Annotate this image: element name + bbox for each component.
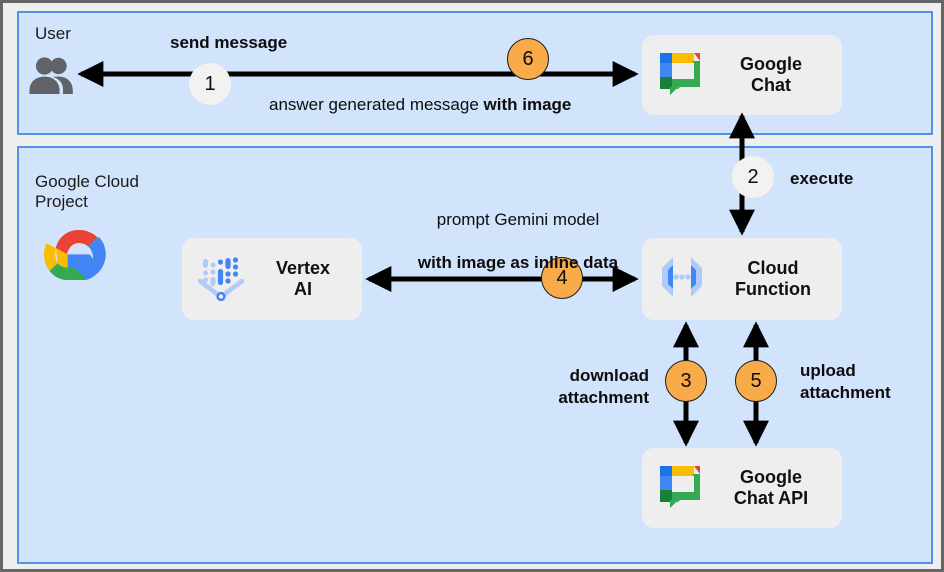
diagram-canvas: User Google Cloud Project (0, 0, 944, 572)
caption-prompt-gemini: prompt Gemini model with image as inline… (412, 187, 624, 296)
caption-answer-bold: with image (484, 95, 572, 114)
users-group-icon (28, 57, 76, 100)
google-chat-logo-icon (656, 462, 704, 515)
vertex-ai-logo-icon (196, 251, 248, 308)
caption-answer-generated-message: answer generated message with image (269, 94, 571, 116)
caption-send-message: send message (170, 32, 287, 54)
caption-prompt-line1: prompt Gemini model (412, 209, 624, 231)
node-google-chat-api[interactable]: Google Chat API (642, 448, 842, 528)
caption-upload-attachment: upload attachment (800, 360, 920, 404)
node-cloud-function-label: Cloud Function (718, 258, 828, 300)
step-badge-2: 2 (732, 156, 774, 198)
node-cloud-function[interactable]: Cloud Function (642, 238, 842, 320)
step-badge-3: 3 (665, 360, 707, 402)
node-vertex-ai-label: Vertex AI (258, 258, 348, 300)
node-google-chat-label: Google Chat (714, 54, 828, 96)
google-chat-logo-icon (656, 49, 704, 102)
caption-execute: execute (790, 168, 853, 190)
google-cloud-logo-icon (43, 226, 115, 293)
caption-answer-regular: answer generated message (269, 95, 484, 114)
step-badge-6: 6 (507, 38, 549, 80)
caption-prompt-line2: with image as inline data (412, 252, 624, 274)
google-cloud-project-panel-label: Google Cloud Project (35, 172, 139, 212)
step-badge-5: 5 (735, 360, 777, 402)
user-panel-label: User (35, 24, 71, 44)
node-google-chat-api-label: Google Chat API (714, 467, 828, 509)
step-badge-1: 1 (189, 63, 231, 105)
node-google-chat[interactable]: Google Chat (642, 35, 842, 115)
node-vertex-ai[interactable]: Vertex AI (182, 238, 362, 320)
caption-download-attachment: download attachment (525, 365, 649, 409)
cloud-function-logo-icon (656, 253, 708, 306)
